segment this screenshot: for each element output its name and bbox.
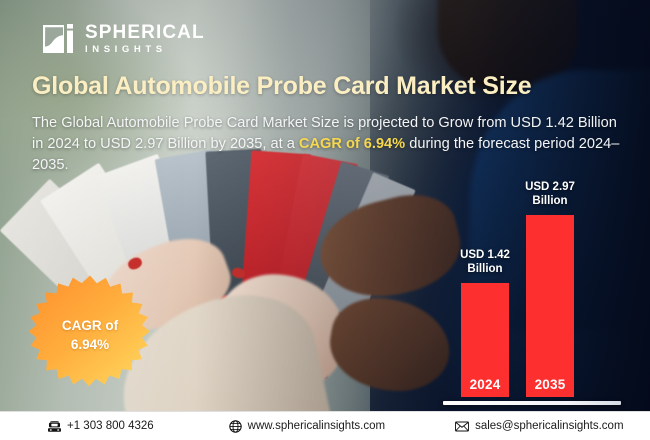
bar-group-2024[interactable]: USD 1.42 Billion 2024: [461, 283, 509, 397]
bar-rect-2035[interactable]: [526, 215, 574, 397]
footer-website[interactable]: www.sphericalinsights.com: [229, 420, 385, 433]
bar-value-amount-2035: USD 2.97: [525, 180, 575, 194]
footer-email[interactable]: sales@sphericalinsights.com: [455, 420, 623, 433]
globe-icon: [229, 420, 242, 433]
footer-phone-text: +1 303 800 4326: [67, 420, 154, 432]
footer-phone[interactable]: +1 303 800 4326: [48, 420, 154, 433]
cagr-badge: CAGR of 6.94%: [25, 283, 155, 387]
telephone-icon: [48, 420, 61, 433]
footer-email-text: sales@sphericalinsights.com: [475, 420, 623, 432]
market-description: The Global Automobile Probe Card Market …: [32, 113, 628, 176]
envelope-icon: [455, 420, 469, 433]
brand-name-secondary: INSIGHTS: [85, 45, 205, 55]
spherical-swoosh-logo-icon: [42, 22, 76, 56]
bar-value-label-2035: USD 2.97 Billion: [525, 180, 575, 208]
brand-name-primary: SPHERICAL: [85, 23, 205, 42]
chart-plot-area: USD 1.42 Billion 2024 USD 2.97 Billion 2…: [443, 197, 625, 397]
market-size-bar-chart: USD 1.42 Billion 2024 USD 2.97 Billion 2…: [443, 175, 625, 405]
starburst-shape: [29, 276, 151, 387]
cagr-highlight: CAGR of 6.94%: [299, 136, 405, 152]
brand-wordmark: SPHERICAL INSIGHTS: [85, 23, 205, 55]
header: SPHERICAL INSIGHTS Global Automobile Pro…: [0, 0, 650, 176]
bar-category-label-2024: 2024: [470, 377, 501, 392]
contact-footer: +1 303 800 4326 www.sphericalinsights.co…: [0, 411, 650, 440]
bar-value-unit-2024: Billion: [460, 262, 510, 276]
page-title: Global Automobile Probe Card Market Size: [32, 72, 622, 101]
bar-group-2035[interactable]: USD 2.97 Billion 2035: [526, 215, 574, 397]
brand-logo[interactable]: SPHERICAL INSIGHTS: [42, 22, 622, 56]
bar-value-unit-2035: Billion: [525, 194, 575, 208]
bar-value-amount-2024: USD 1.42: [460, 248, 510, 262]
bar-category-label-2035: 2035: [535, 377, 566, 392]
infographic-canvas: SPHERICAL INSIGHTS Global Automobile Pro…: [0, 0, 650, 440]
footer-website-text: www.sphericalinsights.com: [248, 420, 385, 432]
chart-baseline-axis: [443, 401, 621, 405]
bar-value-label-2024: USD 1.42 Billion: [460, 248, 510, 276]
